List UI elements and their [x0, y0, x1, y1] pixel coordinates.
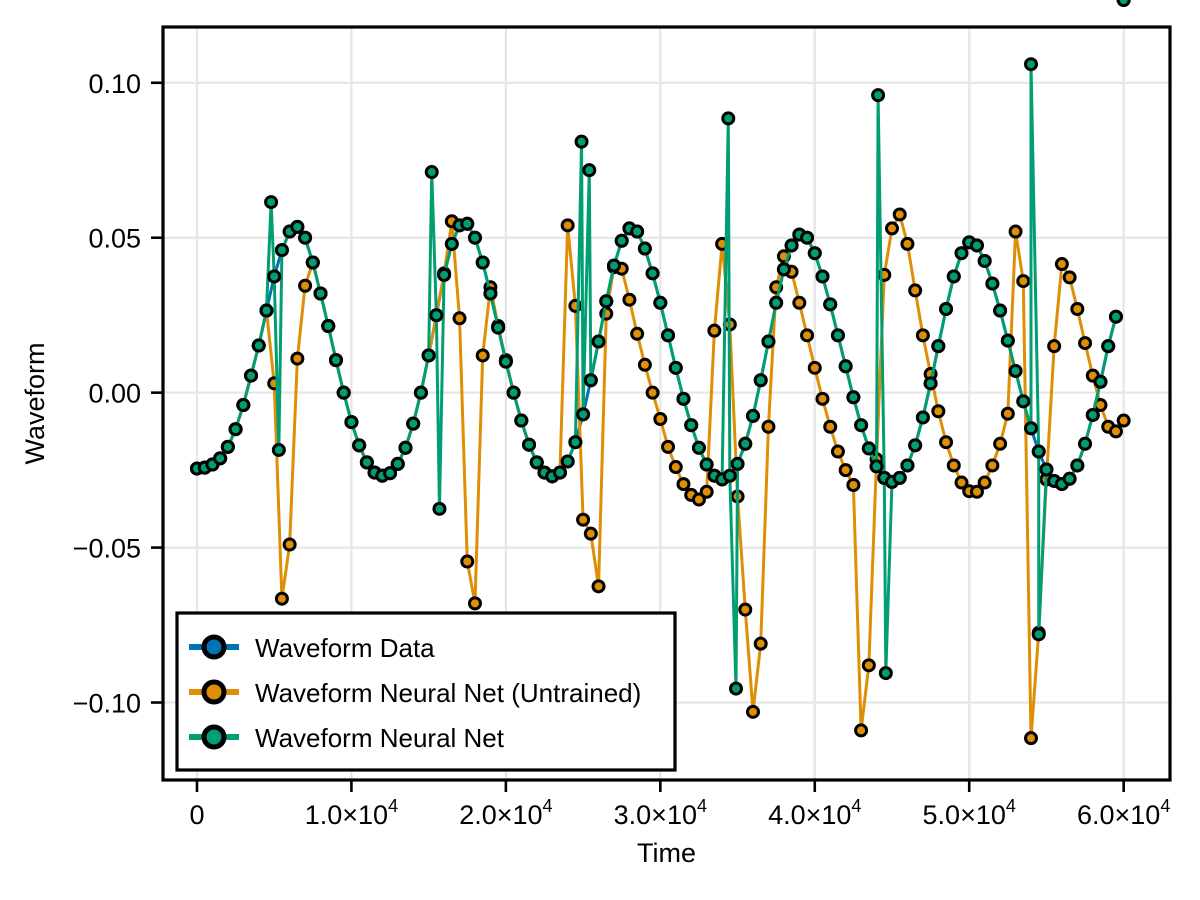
data-point	[222, 441, 233, 452]
waveform-chart-figure: 0.100.050.00−0.05−0.1001.0×1042.0×1043.0…	[0, 0, 1200, 900]
data-point	[1095, 376, 1106, 387]
data-point	[832, 330, 843, 341]
data-point	[300, 280, 311, 291]
x-tick-label-4: 4.0×104	[768, 796, 861, 830]
data-point	[273, 444, 284, 455]
data-point	[323, 321, 334, 332]
data-point	[786, 240, 797, 251]
data-point	[802, 232, 813, 243]
x-tick-label-2: 2.0×104	[459, 796, 552, 830]
data-point	[678, 393, 689, 404]
data-point	[585, 528, 596, 539]
data-point	[670, 362, 681, 373]
data-point	[562, 220, 573, 231]
data-point	[701, 486, 712, 497]
data-point	[1072, 303, 1083, 314]
data-point	[1080, 338, 1091, 349]
data-point	[570, 437, 581, 448]
data-point	[910, 285, 921, 296]
data-point	[1018, 276, 1029, 287]
data-point	[1026, 59, 1037, 70]
data-point	[987, 460, 998, 471]
data-point	[1049, 341, 1060, 352]
data-point	[469, 232, 480, 243]
data-point	[747, 410, 758, 421]
data-point	[925, 378, 936, 389]
data-point	[426, 167, 437, 178]
data-point	[825, 299, 836, 310]
legend-marker-icon	[204, 637, 224, 657]
data-point	[1041, 464, 1052, 475]
data-point	[500, 356, 511, 367]
data-point	[1072, 460, 1083, 471]
data-point	[562, 456, 573, 467]
data-point	[755, 638, 766, 649]
data-point	[1056, 259, 1067, 270]
data-point	[238, 400, 249, 411]
data-point	[1002, 335, 1013, 346]
data-point	[408, 418, 419, 429]
data-point	[431, 310, 442, 321]
data-point	[979, 477, 990, 488]
data-point	[400, 442, 411, 453]
data-point	[639, 243, 650, 254]
data-point	[825, 421, 836, 432]
data-point	[902, 460, 913, 471]
data-point	[300, 232, 311, 243]
data-point	[902, 238, 913, 249]
data-point	[292, 221, 303, 232]
data-point	[1026, 733, 1037, 744]
data-point	[709, 325, 720, 336]
data-point	[941, 303, 952, 314]
data-point	[856, 725, 867, 736]
data-point	[423, 350, 434, 361]
data-point	[269, 271, 280, 282]
data-point	[624, 294, 635, 305]
x-tick-label-6: 6.0×104	[1077, 796, 1170, 830]
data-point	[593, 581, 604, 592]
legend-item-label: Waveform Neural Net (Untrained)	[255, 678, 641, 708]
data-point	[917, 330, 928, 341]
data-point	[995, 305, 1006, 316]
data-point	[747, 706, 758, 717]
data-point	[1087, 409, 1098, 420]
data-point	[516, 415, 527, 426]
data-point	[778, 264, 789, 275]
data-point	[1002, 408, 1013, 419]
data-point	[454, 313, 465, 324]
data-point	[686, 420, 697, 431]
data-point	[508, 387, 519, 398]
data-point	[948, 460, 959, 471]
data-point	[493, 322, 504, 333]
data-point	[933, 406, 944, 417]
data-point	[948, 271, 959, 282]
data-point	[361, 457, 372, 468]
data-point	[1010, 365, 1021, 376]
data-point	[802, 330, 813, 341]
data-point	[1064, 473, 1075, 484]
data-point	[894, 472, 905, 483]
data-point	[971, 240, 982, 251]
chart-canvas: 0.100.050.00−0.05−0.1001.0×1042.0×1043.0…	[0, 0, 1200, 900]
data-point	[524, 439, 535, 450]
data-point	[724, 470, 735, 481]
data-point	[246, 370, 257, 381]
data-point	[933, 341, 944, 352]
data-point	[330, 355, 341, 366]
legend-item-label: Waveform Neural Net	[255, 723, 505, 753]
x-tick-label-0: 0	[189, 800, 204, 830]
data-point	[832, 446, 843, 457]
data-point	[663, 441, 674, 452]
data-point	[763, 421, 774, 432]
data-point	[817, 271, 828, 282]
data-point	[740, 438, 751, 449]
data-point	[639, 359, 650, 370]
data-point	[392, 458, 403, 469]
data-point	[1033, 446, 1044, 457]
data-point	[585, 375, 596, 386]
legend-item-1[interactable]: Waveform Neural Net (Untrained)	[189, 678, 641, 708]
data-point	[723, 113, 734, 124]
data-point	[531, 457, 542, 468]
data-point	[655, 297, 666, 308]
data-point	[446, 238, 457, 249]
data-point	[763, 336, 774, 347]
data-point	[1064, 272, 1075, 283]
data-point	[276, 593, 287, 604]
data-point	[856, 420, 867, 431]
data-point	[1118, 0, 1129, 6]
data-point	[354, 440, 365, 451]
data-point	[578, 514, 589, 525]
data-point	[840, 465, 851, 476]
data-point	[1018, 396, 1029, 407]
data-point	[956, 248, 967, 259]
data-point	[338, 387, 349, 398]
data-point	[647, 268, 658, 279]
y-tick-label-0: 0.10	[88, 69, 141, 99]
data-point	[1110, 426, 1121, 437]
data-point	[995, 438, 1006, 449]
data-point	[693, 442, 704, 453]
legend-item-label: Waveform Data	[255, 633, 435, 663]
legend-marker-icon	[204, 682, 224, 702]
data-point	[261, 305, 272, 316]
data-point	[253, 340, 264, 351]
data-point	[608, 260, 619, 271]
data-point	[880, 668, 891, 679]
data-point	[987, 278, 998, 289]
y-tick-label-4: −0.10	[73, 689, 141, 719]
data-point	[434, 503, 445, 514]
data-point	[863, 443, 874, 454]
y-tick-label-1: 0.05	[88, 224, 141, 254]
data-point	[1033, 629, 1044, 640]
data-point	[1080, 438, 1091, 449]
data-point	[647, 387, 658, 398]
data-point	[616, 235, 627, 246]
data-point	[917, 412, 928, 423]
data-point	[315, 288, 326, 299]
data-point	[230, 424, 241, 435]
data-point	[584, 165, 595, 176]
data-point	[740, 604, 751, 615]
data-point	[276, 245, 287, 256]
data-point	[873, 90, 884, 101]
data-point	[1010, 226, 1021, 237]
data-point	[576, 136, 587, 147]
data-point	[848, 480, 859, 491]
data-point	[1026, 423, 1037, 434]
data-point	[1103, 341, 1114, 352]
y-tick-label-3: −0.05	[73, 534, 141, 564]
data-point	[794, 297, 805, 308]
data-point	[477, 350, 488, 361]
data-point	[284, 539, 295, 550]
data-point	[292, 353, 303, 364]
data-point	[578, 409, 589, 420]
data-point	[554, 467, 565, 478]
y-tick-label-2: 0.00	[88, 379, 141, 409]
y-axis-title: Waveform	[20, 342, 50, 464]
data-point	[415, 387, 426, 398]
x-axis-title: Time	[637, 838, 696, 868]
data-point	[439, 269, 450, 280]
data-point	[894, 209, 905, 220]
data-point	[840, 361, 851, 372]
data-point	[266, 197, 277, 208]
data-point	[1118, 415, 1129, 426]
data-point	[469, 598, 480, 609]
data-point	[979, 255, 990, 266]
data-point	[215, 453, 226, 464]
legend[interactable]: Waveform DataWaveform Neural Net (Untrai…	[177, 613, 675, 770]
data-point	[732, 458, 743, 469]
data-point	[670, 462, 681, 473]
data-point	[462, 556, 473, 567]
data-point	[941, 437, 952, 448]
data-point	[817, 393, 828, 404]
data-point	[871, 461, 882, 472]
data-point	[755, 375, 766, 386]
data-point	[601, 296, 612, 307]
data-point	[731, 683, 742, 694]
data-point	[663, 330, 674, 341]
data-point	[910, 440, 921, 451]
series-line	[197, 64, 1116, 688]
x-tick-label-1: 1.0×104	[305, 796, 398, 830]
data-point	[886, 223, 897, 234]
data-point	[1110, 311, 1121, 322]
legend-marker-icon	[204, 727, 224, 747]
data-point	[346, 417, 357, 428]
data-point	[485, 288, 496, 299]
data-point	[809, 362, 820, 373]
data-point	[771, 297, 782, 308]
data-point	[655, 413, 666, 424]
data-point	[701, 459, 712, 470]
x-tick-label-3: 3.0×104	[614, 796, 707, 830]
data-point	[477, 257, 488, 268]
data-point	[678, 479, 689, 490]
x-tick-label-5: 5.0×104	[923, 796, 1016, 830]
data-point	[632, 226, 643, 237]
data-point	[863, 660, 874, 671]
data-point	[593, 336, 604, 347]
data-point	[809, 248, 820, 259]
data-point	[848, 392, 859, 403]
data-point	[462, 218, 473, 229]
data-point	[307, 257, 318, 268]
data-point	[632, 328, 643, 339]
